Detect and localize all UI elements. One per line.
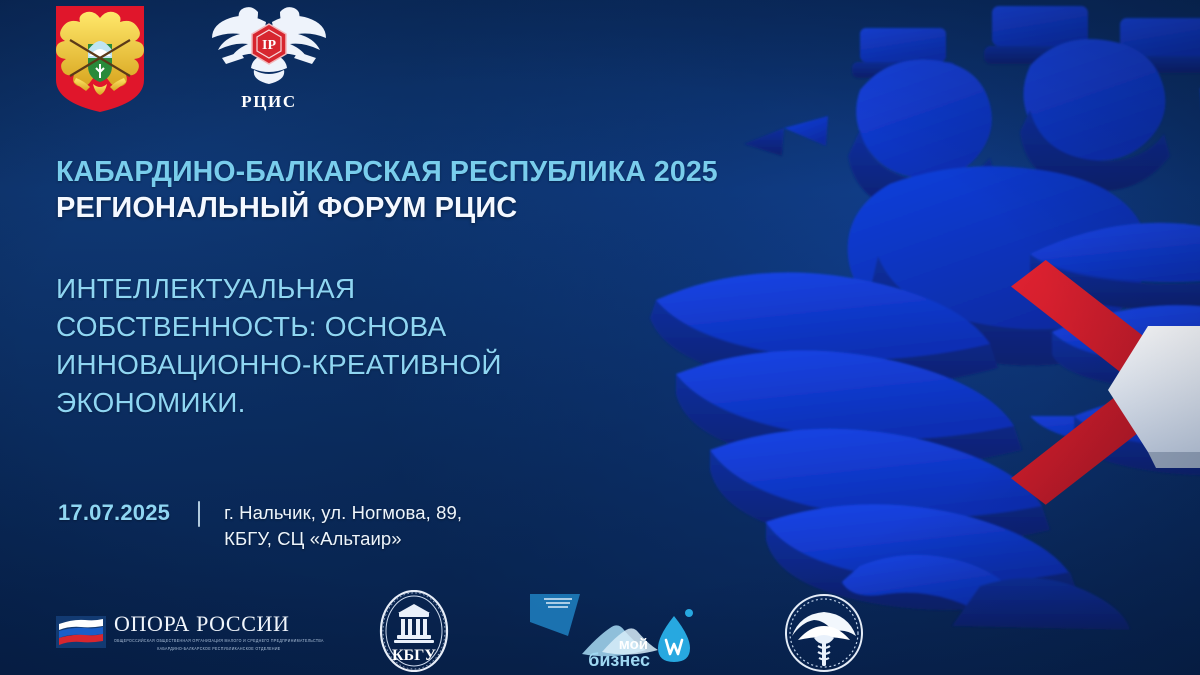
opora-rossii-subtitle-line-2: КАБАРДИНО-БАЛКАРСКОЕ РЕСПУБЛИКАНСКОЕ ОТД… (114, 646, 324, 653)
event-poster: IP РЦИС КАБАРДИНО-БАЛКАРСКАЯ РЕСПУБЛИКА … (0, 0, 1200, 675)
svg-text:IP: IP (262, 38, 276, 53)
event-date: 17.07.2025 (58, 500, 170, 526)
subtitle-line-2: СОБСТВЕННОСТЬ: ОСНОВА (56, 308, 696, 346)
kbgu-logo: КБГУ (358, 590, 470, 672)
venue-line-2: КБГУ, СЦ «Альтаир» (224, 526, 462, 552)
rcis-logo: IP РЦИС (210, 4, 328, 122)
subtitle-line-1: ИНТЕЛЛЕКТУАЛЬНАЯ (56, 270, 696, 308)
opora-rossii-logo: ОПОРА РОССИИ ОБЩЕРОССИЙСКАЯ ОБЩЕСТВЕННАЯ… (56, 606, 296, 658)
venue-line-1: г. Нальчик, ул. Ногмова, 89, (224, 500, 462, 526)
headline-line-2: РЕГИОНАЛЬНЫЙ ФОРУМ РЦИС (56, 193, 756, 223)
headline-block: КАБАРДИНО-БАЛКАРСКАЯ РЕСПУБЛИКА 2025 РЕГ… (56, 158, 756, 223)
meta-separator (198, 501, 200, 527)
kbgu-title: КБГУ (392, 647, 436, 664)
subtitle-line-4: ЭКОНОМИКИ. (56, 384, 696, 422)
partner-logo-row: ОПОРА РОССИИ ОБЩЕРОССИЙСКАЯ ОБЩЕСТВЕННАЯ… (0, 588, 1200, 675)
tpp-kbr-logo (762, 592, 886, 674)
headline-line-1: КАБАРДИНО-БАЛКАРСКАЯ РЕСПУБЛИКА 2025 (56, 158, 756, 188)
top-logo-row: IP РЦИС (52, 4, 328, 122)
subtitle-line-3: ИННОВАЦИОННО-КРЕАТИВНОЙ (56, 346, 696, 384)
moy-biznes-logo: мой бизнес (528, 592, 704, 672)
event-venue: г. Нальчик, ул. Ногмова, 89, КБГУ, СЦ «А… (224, 500, 462, 553)
opora-rossii-subtitle-line-1: ОБЩЕРОССИЙСКАЯ ОБЩЕСТВЕННАЯ ОРГАНИЗАЦИЯ … (114, 638, 324, 645)
opora-rossii-title: ОПОРА РОССИИ (114, 613, 324, 635)
subtitle-block: ИНТЕЛЛЕКТУАЛЬНАЯ СОБСТВЕННОСТЬ: ОСНОВА И… (56, 270, 696, 422)
rcis-logo-caption: РЦИС (210, 92, 328, 112)
kbr-coat-of-arms-logo (52, 4, 148, 114)
event-meta: 17.07.2025 г. Нальчик, ул. Ногмова, 89, … (58, 500, 462, 553)
moy-biznes-title-line-2: бизнес (588, 650, 650, 670)
russian-flag-icon (56, 616, 106, 648)
